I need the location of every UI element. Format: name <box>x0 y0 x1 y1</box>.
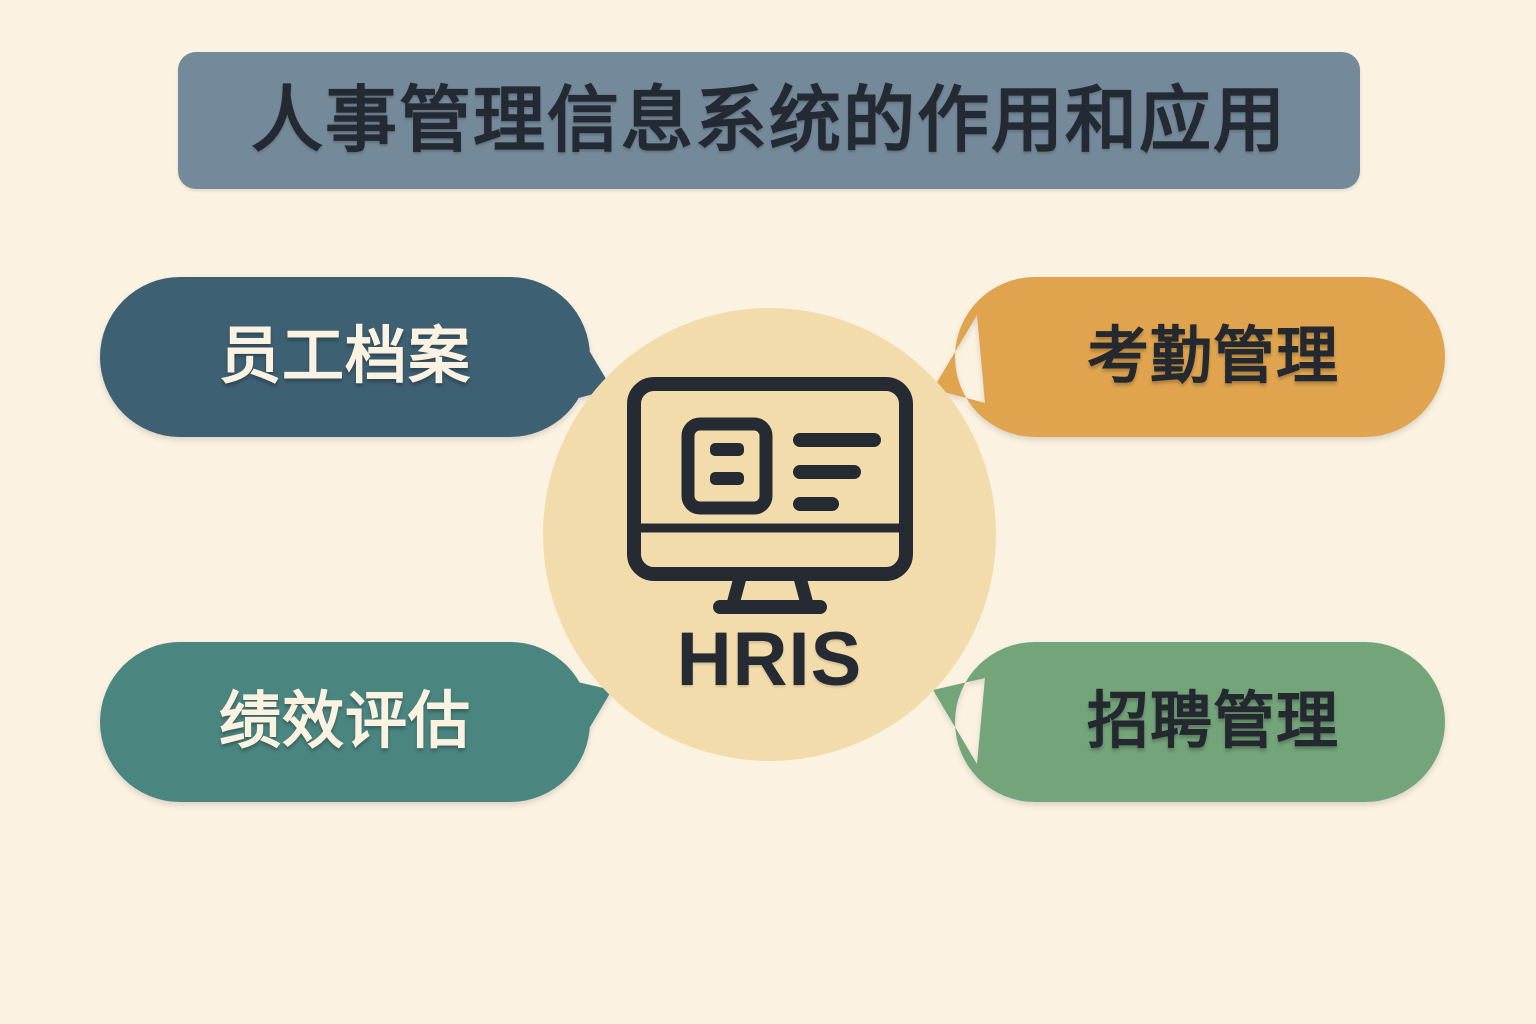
page-title: 人事管理信息系统的作用和应用 <box>251 85 1287 157</box>
callout-employee-records[interactable]: 员工档案 <box>100 277 590 437</box>
center-label-hris: HRIS <box>677 622 863 698</box>
center-node-hris[interactable]: HRIS <box>543 308 996 761</box>
callout-label-performance: 绩效评估 <box>196 642 494 802</box>
title-banner: 人事管理信息系统的作用和应用 <box>178 52 1360 189</box>
desktop-monitor-icon <box>625 376 915 626</box>
callout-recruitment[interactable]: 招聘管理 <box>955 642 1445 802</box>
callout-label-attendance: 考勤管理 <box>1051 277 1375 437</box>
infographic-canvas: 人事管理信息系统的作用和应用 员工档案 考勤管理 绩效评估 招聘管理 <box>0 0 1536 1024</box>
callout-label-recruitment: 招聘管理 <box>1051 642 1375 802</box>
callout-attendance[interactable]: 考勤管理 <box>955 277 1445 437</box>
callout-label-employee-records: 员工档案 <box>196 277 494 437</box>
callout-performance[interactable]: 绩效评估 <box>100 642 590 802</box>
